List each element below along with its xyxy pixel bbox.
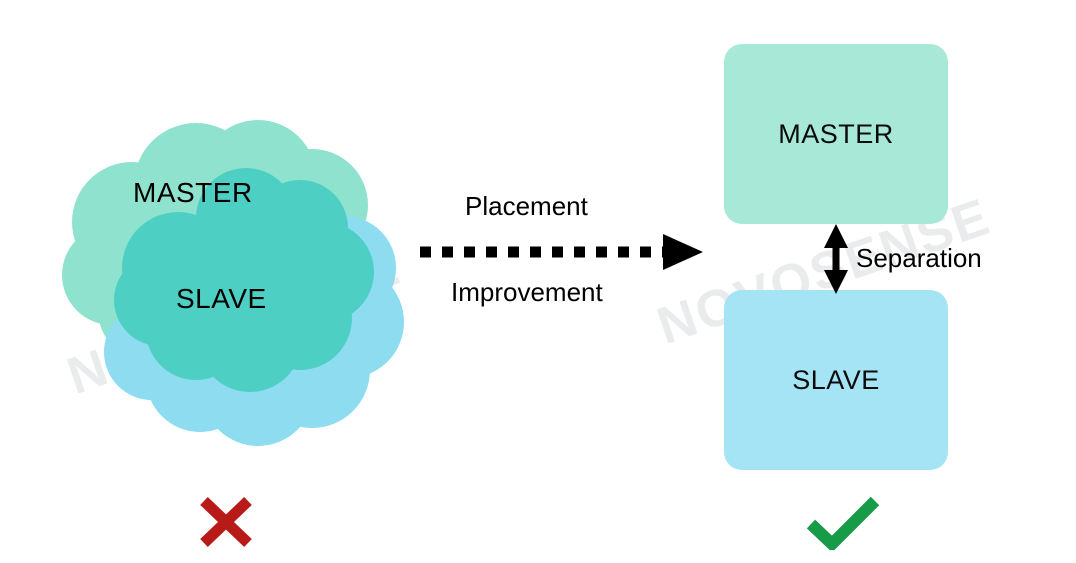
arrow-head-up-icon: [824, 224, 848, 248]
separation-label: Separation: [856, 243, 982, 274]
cross-icon: [196, 494, 256, 550]
diagram-canvas: NOVOSENSE NOVOSENSE: [0, 0, 1076, 563]
arrow-head-down-icon: [824, 270, 848, 294]
check-icon: [806, 496, 880, 550]
separation-arrow: [0, 0, 1076, 563]
